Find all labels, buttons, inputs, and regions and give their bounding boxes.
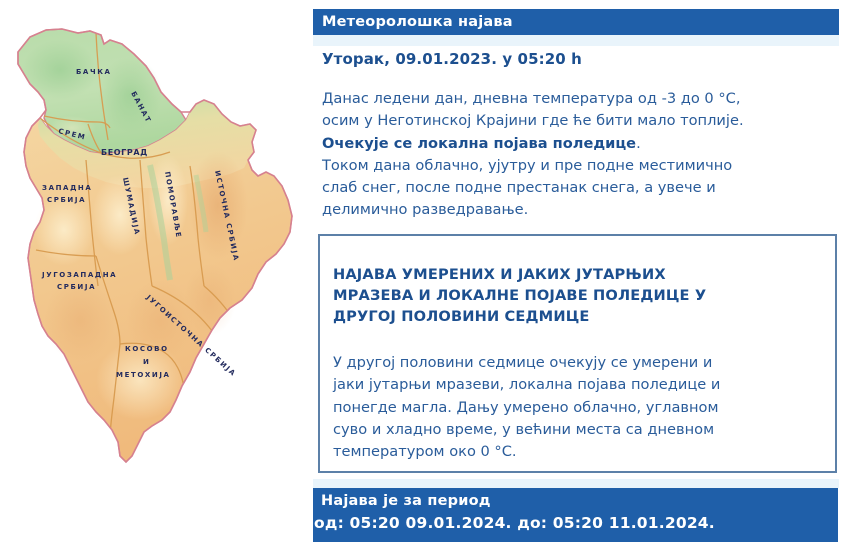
- map-label-backa: БАЧКА: [76, 68, 112, 76]
- map-label-kosovo: КОСОВО: [125, 345, 169, 353]
- alert-heading-line-3: ДРУГОЈ ПОЛОВИНИ СЕДМИЦЕ: [333, 306, 803, 327]
- alert-body-line-3: понегде магла. Дању умерено облачно, угл…: [333, 397, 811, 419]
- map-label-metohija: МЕТОХИЈА: [116, 371, 171, 379]
- alert-body-text: У другој половини седмице очекују се уме…: [333, 352, 811, 463]
- alert-body-line-1: У другој половини седмице очекују се уме…: [333, 352, 811, 374]
- forecast-line-5: слаб снег, после подне престанак снега, …: [322, 177, 832, 199]
- serbia-map-panel: БАЧКА БАНАТ СРЕМ БЕОГРАД ЗАПАДНА СРБИЈА …: [0, 0, 310, 542]
- forecast-line-6: делимично разведравање.: [322, 199, 832, 221]
- map-label-beograd: БЕОГРАД: [101, 148, 148, 157]
- bulletin-title: Метеоролошка најава: [322, 14, 513, 30]
- forecast-text: Данас ледени дан, дневна температура од …: [322, 88, 832, 222]
- forecast-emphasis: Очекује се локална појава поледице: [322, 135, 636, 152]
- alert-heading-line-1: НАЈАВА УМЕРЕНИХ И ЈАКИХ ЈУТАРЊИХ: [333, 264, 803, 285]
- title-underline-strip: [313, 35, 839, 46]
- alert-body-line-2: јаки јутарњи мразеви, локална појава пол…: [333, 374, 811, 396]
- map-label-jugozapadna-srbija: СРБИЈА: [57, 283, 96, 291]
- validity-period: од: 05:20 09.01.2024. до: 05:20 11.01.20…: [314, 512, 838, 534]
- alert-body-line-5: температуром око 0 °C.: [333, 441, 811, 463]
- bulletin-title-bar: Метеоролошка најава: [313, 9, 839, 35]
- alert-heading-line-2: МРАЗЕВА И ЛОКАЛНЕ ПОЈАВЕ ПОЛЕДИЦЕ У: [333, 285, 803, 306]
- map-label-zapadna-srbija: СРБИЈА: [47, 196, 86, 204]
- alert-heading: НАЈАВА УМЕРЕНИХ И ЈАКИХ ЈУТАРЊИХ МРАЗЕВА…: [333, 264, 803, 327]
- forecast-emphasis-tail: .: [636, 135, 641, 152]
- forecast-line-4: Током дана облачно, ујутру и пре подне м…: [322, 155, 832, 177]
- forecast-line-3: Очекује се локална појава поледице.: [322, 133, 832, 155]
- map-label-i: И: [143, 358, 150, 366]
- map-label-jugozapadna: ЈУГОЗАПАДНА: [41, 271, 117, 279]
- forecast-line-2: осим у Неготинској Крајини где ће бити м…: [322, 110, 832, 132]
- validity-footer-bar: Најава је за период од: 05:20 09.01.2024…: [313, 488, 838, 542]
- footer-gap-strip: [313, 479, 839, 488]
- alert-body-line-4: суво и хладно време, у већини места са д…: [333, 419, 811, 441]
- bulletin-date: Уторак, 09.01.2023. у 05:20 h: [322, 50, 842, 68]
- forecast-line-1: Данас ледени дан, дневна температура од …: [322, 88, 832, 110]
- serbia-map-graphic: БАЧКА БАНАТ СРЕМ БЕОГРАД ЗАПАДНА СРБИЈА …: [0, 0, 310, 542]
- weather-bulletin-panel: Метеоролошка најава Уторак, 09.01.2023. …: [311, 0, 850, 542]
- validity-title: Најава је за период: [321, 491, 838, 512]
- map-label-zapadna: ЗАПАДНА: [42, 184, 92, 192]
